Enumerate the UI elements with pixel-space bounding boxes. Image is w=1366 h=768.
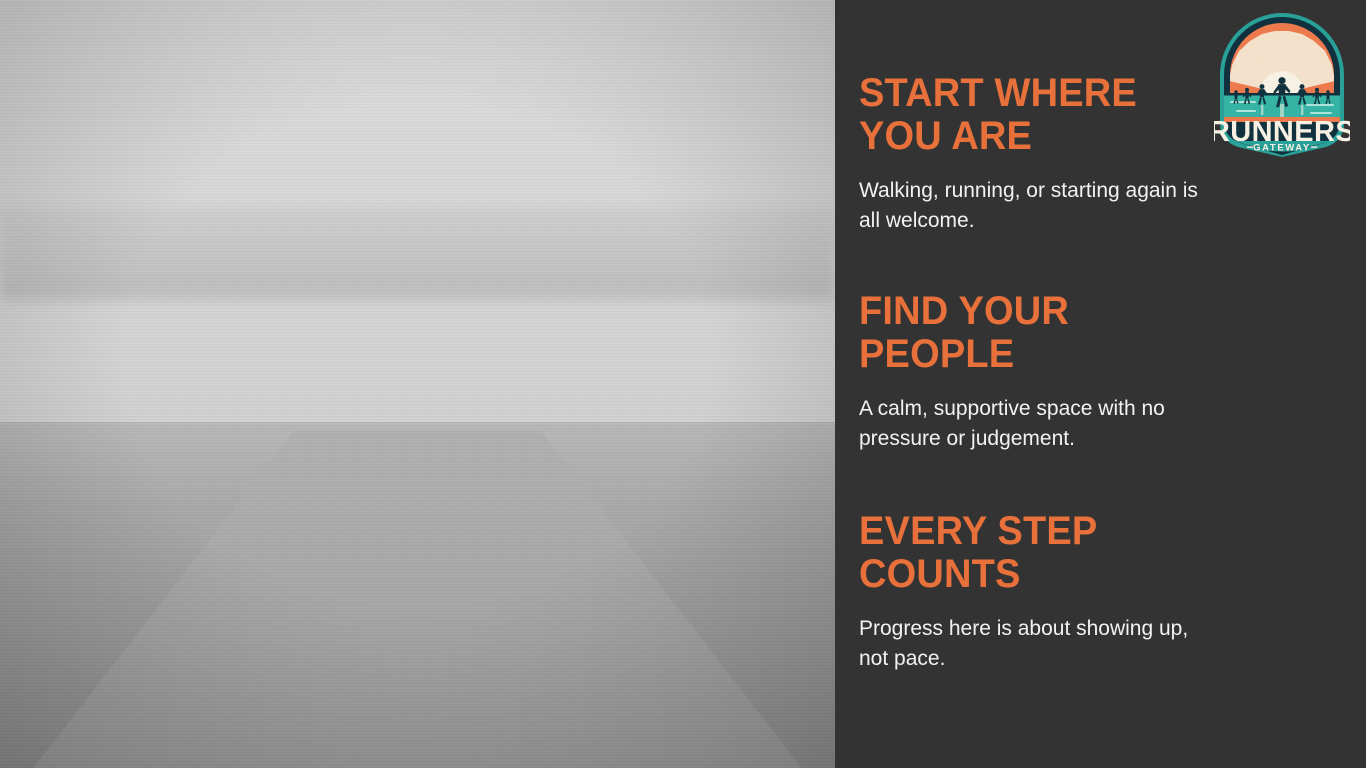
content-block-every-step-counts: EVERY STEP COUNTS Progress here is about… [859, 510, 1199, 674]
block-body: A calm, supportive space with no pressur… [859, 394, 1199, 454]
hero-photo [0, 0, 835, 768]
slide-root: RUNNERS GATEWAY START WHERE YOU ARE Walk… [0, 0, 1366, 768]
content-panel: RUNNERS GATEWAY START WHERE YOU ARE Walk… [835, 0, 1366, 768]
block-body: Walking, running, or starting again is a… [859, 176, 1199, 236]
block-body: Progress here is about showing up, not p… [859, 614, 1199, 674]
block-heading: START WHERE YOU ARE [859, 72, 1182, 158]
photo-background-field [0, 207, 835, 299]
content-block-start-where-you-are: START WHERE YOU ARE Walking, running, or… [859, 72, 1199, 236]
runners-gateway-logo-icon: RUNNERS GATEWAY [1214, 5, 1350, 157]
block-heading: EVERY STEP COUNTS [859, 510, 1182, 596]
logo-banner-text: GATEWAY [1253, 143, 1311, 154]
content-blocks: START WHERE YOU ARE Walking, running, or… [859, 72, 1199, 674]
block-heading: FIND YOUR PEOPLE [859, 290, 1182, 376]
content-block-find-your-people: FIND YOUR PEOPLE A calm, supportive spac… [859, 290, 1199, 454]
